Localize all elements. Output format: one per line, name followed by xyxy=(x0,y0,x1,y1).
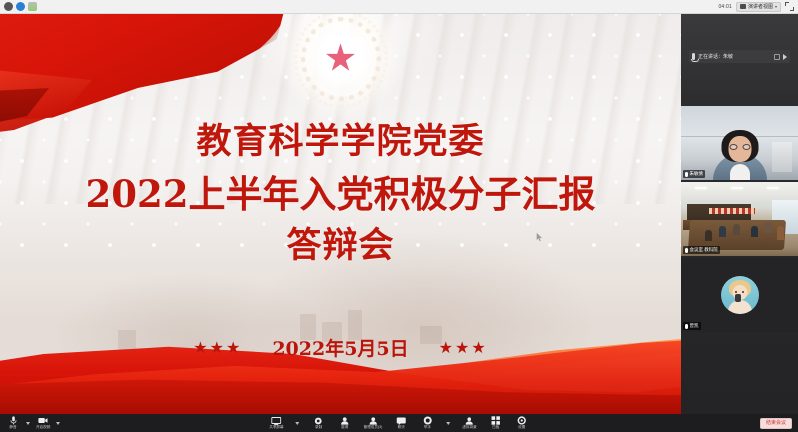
slide-title: 教育科学学院党委 2022上半年入党积极分子汇报 答辩会 xyxy=(0,116,681,272)
microphone-icon xyxy=(685,248,688,253)
view-mode-selector[interactable]: 演讲者视图 ▾ xyxy=(736,2,781,12)
toolbar-right-group: 结束会议 xyxy=(760,418,798,429)
video-tile[interactable]: 曾凯 xyxy=(681,258,798,332)
share-screen-button[interactable]: 共享屏幕 xyxy=(269,416,283,430)
avatar-hand xyxy=(735,294,741,302)
video-camera-icon xyxy=(38,416,48,425)
android-icon xyxy=(4,2,13,11)
participant-name: 朱敏倩 xyxy=(690,171,704,177)
seated-person xyxy=(705,230,712,241)
mouse-cursor-icon xyxy=(536,232,543,242)
chevron-down-icon[interactable] xyxy=(446,422,450,425)
whiteboard-label: 白板 xyxy=(492,426,499,430)
video-tile[interactable]: 朱敏倩 xyxy=(681,106,798,180)
chevron-down-icon[interactable] xyxy=(26,422,30,425)
manage-members-button[interactable]: 管理成员(3) xyxy=(364,416,383,430)
collapse-arrow-icon[interactable] xyxy=(783,54,787,60)
members-icon xyxy=(368,416,378,425)
person-shirt xyxy=(730,164,750,180)
start-video-label: 开启视频 xyxy=(36,426,50,430)
chevron-down-icon[interactable] xyxy=(296,422,300,425)
mute-label: 静音 xyxy=(9,426,16,430)
invite-label: 邀请 xyxy=(341,426,348,430)
avatar xyxy=(721,276,759,314)
door-shape xyxy=(772,142,792,172)
ceiling-light xyxy=(695,187,707,189)
stars-right-icon: ★★★ xyxy=(439,338,488,358)
chevron-down-icon[interactable] xyxy=(56,422,60,425)
avatar-eye xyxy=(742,291,744,293)
record-icon xyxy=(314,416,324,425)
bluetooth-icon xyxy=(16,2,25,11)
conference-room-background xyxy=(681,182,798,256)
chat-button[interactable]: 聊天 xyxy=(394,416,408,430)
whiteboard-button[interactable]: 白板 xyxy=(489,416,503,430)
microphone-icon xyxy=(8,416,18,425)
raise-hand-button[interactable]: 举手 xyxy=(420,416,434,430)
pin-icon[interactable] xyxy=(774,54,780,60)
start-video-button[interactable]: 开启视频 xyxy=(36,416,50,430)
video-tile[interactable]: 会议室 教科院 xyxy=(681,182,798,256)
avatar-eye xyxy=(735,291,737,293)
raise-hand-label: 举手 xyxy=(424,426,431,430)
toolbar-left-group: 静音 开启视频 xyxy=(0,416,60,430)
slide-date-row: ★★★ 2022年5月5日 ★★★ xyxy=(0,334,681,361)
meeting-toolbar: 静音 开启视频 共享屏幕 xyxy=(0,414,798,432)
settings-label: 设置 xyxy=(518,426,525,430)
toolbar-center-group: 共享屏幕 录制 邀请 管理成员(3) xyxy=(269,416,529,430)
settings-button[interactable]: 设置 xyxy=(515,416,529,430)
mute-button[interactable]: 静音 xyxy=(6,416,20,430)
fullscreen-icon[interactable] xyxy=(785,2,794,11)
virtual-background-button[interactable]: 虚拟背景 xyxy=(462,416,476,430)
virtual-background-icon xyxy=(465,416,475,425)
record-label: 录制 xyxy=(315,426,322,430)
active-speaker-bar[interactable]: 正在讲话：朱敏 xyxy=(689,50,790,63)
invite-button[interactable]: 邀请 xyxy=(338,416,352,430)
microphone-icon xyxy=(692,53,695,60)
video-tile-label: 曾凯 xyxy=(683,322,701,330)
seated-person xyxy=(719,226,726,237)
ceiling-light xyxy=(731,187,743,189)
slide-title-line-2: 2022上半年入党积极分子汇报 xyxy=(0,168,681,220)
raise-hand-icon xyxy=(422,416,432,425)
gear-icon xyxy=(517,416,527,425)
seated-person xyxy=(765,222,772,233)
shared-screen-stage[interactable]: 教育科学学院党委 2022上半年入党积极分子汇报 答辩会 ★★★ 2022年5月… xyxy=(0,14,681,414)
slide-title-line-3: 答辩会 xyxy=(0,220,681,272)
standing-person xyxy=(777,226,784,240)
slide-title-line-1: 教育科学学院党委 xyxy=(0,116,681,168)
virtual-background-label: 虚拟背景 xyxy=(462,426,476,430)
view-mode-label: 演讲者视图 xyxy=(748,3,773,10)
glasses-icon xyxy=(729,144,750,150)
titlebar-right-controls: 04:01 演讲者视图 ▾ xyxy=(718,2,798,12)
ceiling xyxy=(681,182,798,202)
participant-name: 曾凯 xyxy=(690,323,699,329)
stars-left-icon: ★★★ xyxy=(193,338,242,358)
slide-text-layer: 教育科学学院党委 2022上半年入党积极分子汇报 答辩会 ★★★ 2022年5月… xyxy=(0,14,681,414)
seated-person xyxy=(751,226,758,237)
slide-date: 2022年5月5日 xyxy=(272,334,408,361)
record-button[interactable]: 录制 xyxy=(312,416,326,430)
whiteboard-icon xyxy=(491,416,501,425)
ceiling-light xyxy=(767,187,779,189)
microphone-icon xyxy=(685,324,688,329)
chat-label: 聊天 xyxy=(398,426,405,430)
video-tile-label: 朱敏倩 xyxy=(683,170,705,178)
microphone-icon xyxy=(685,172,688,177)
participant-name: 会议室 教科院 xyxy=(690,247,718,253)
seated-person xyxy=(733,224,740,235)
video-sidebar: 正在讲话：朱敏 朱敏倩 xyxy=(681,14,798,414)
chevron-down-icon: ▾ xyxy=(775,4,777,9)
invite-icon xyxy=(340,416,350,425)
manage-members-label: 管理成员(3) xyxy=(364,426,383,430)
signal-icon xyxy=(28,2,37,11)
active-speaker-name: 正在讲话：朱敏 xyxy=(698,53,771,60)
meeting-timer: 04:01 xyxy=(718,4,732,10)
chat-icon xyxy=(396,416,406,425)
wall-banner xyxy=(709,208,755,214)
layout-icon xyxy=(740,4,746,9)
share-screen-label: 共享屏幕 xyxy=(269,426,283,430)
titlebar-status-icons xyxy=(0,2,37,11)
presentation-slide: 教育科学学院党委 2022上半年入党积极分子汇报 答辩会 ★★★ 2022年5月… xyxy=(0,14,681,414)
window-titlebar: 04:01 演讲者视图 ▾ xyxy=(0,0,798,14)
meeting-window: 04:01 演讲者视图 ▾ xyxy=(0,0,798,432)
end-meeting-button[interactable]: 结束会议 xyxy=(760,418,792,429)
share-screen-icon xyxy=(271,416,281,425)
avatar-body xyxy=(728,300,752,314)
video-tile-label: 会议室 教科院 xyxy=(683,246,720,254)
